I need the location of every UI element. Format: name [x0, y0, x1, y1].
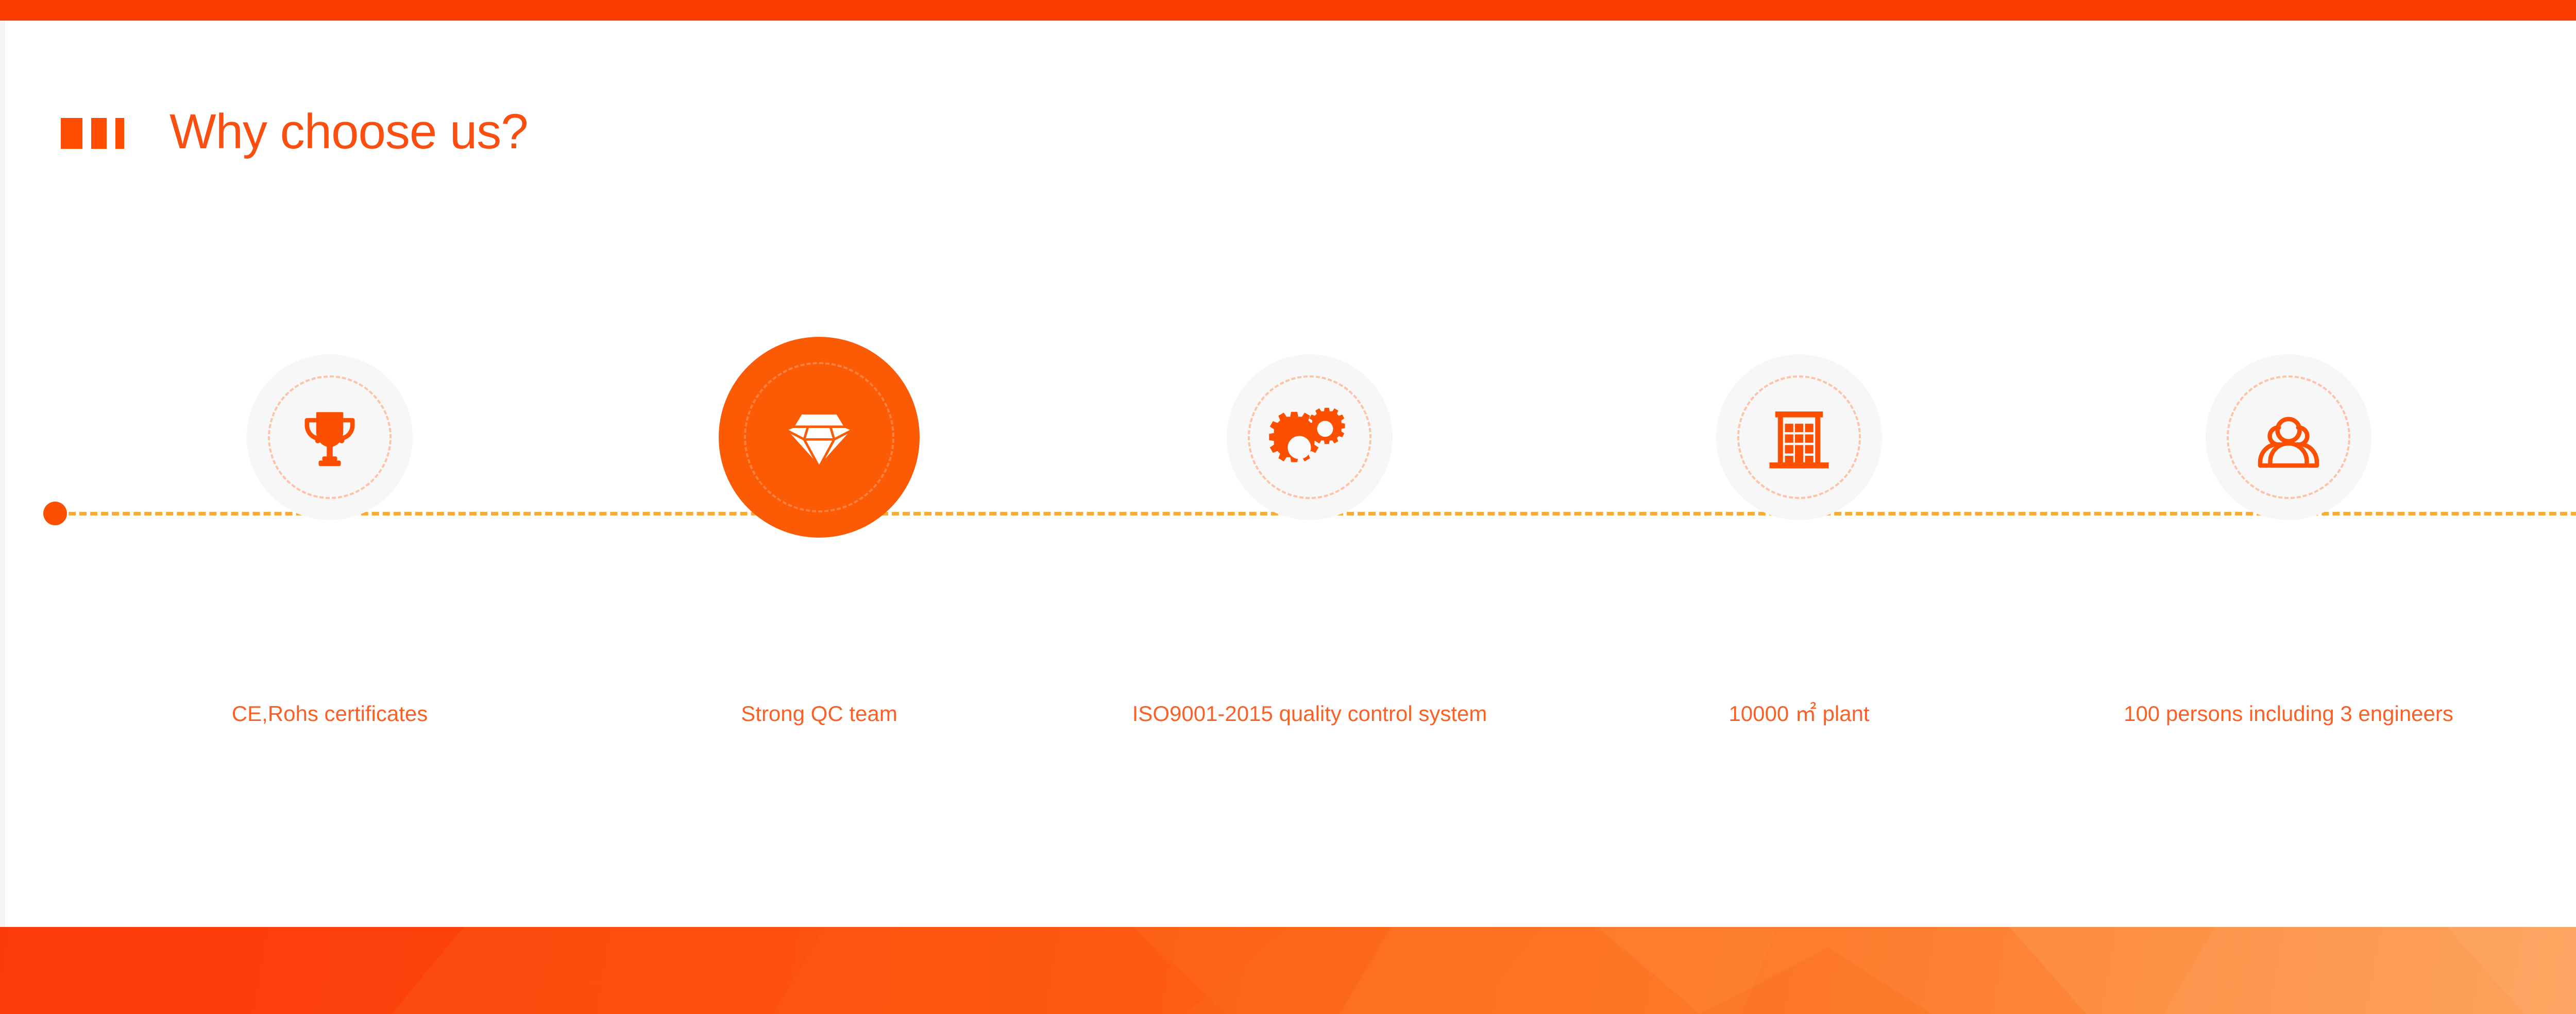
building-icon: [1758, 396, 1840, 478]
section-heading: Why choose us?: [61, 101, 528, 163]
heading-bar-wide-icon: [61, 118, 82, 149]
step-5-label: 100 persons including 3 engineers: [2052, 700, 2526, 727]
timeline-steps: CE,Rohs certificates Str: [0, 288, 2576, 803]
heading-bar-thin-icon: [115, 118, 124, 149]
step-5-circle[interactable]: [2206, 354, 2371, 520]
low-poly-shapes: [0, 927, 2576, 1014]
timeline-step-1[interactable]: CE,Rohs certificates: [165, 288, 495, 803]
step-4-label: 10000 ㎡ plant: [1562, 700, 2036, 727]
heading-bars-decoration: [61, 118, 124, 149]
step-3-circle[interactable]: [1227, 354, 1393, 520]
page-title: Why choose us?: [170, 107, 528, 157]
step-3-label: ISO9001-2015 quality control system: [1073, 700, 1547, 727]
people-group-icon: [2247, 396, 2330, 478]
why-choose-us-timeline: CE,Rohs certificates Str: [0, 288, 2576, 803]
step-1-circle[interactable]: [247, 354, 413, 520]
step-1-label: CE,Rohs certificates: [93, 700, 567, 727]
gears-icon: [1268, 396, 1351, 478]
top-accent-bar: [0, 0, 2576, 21]
timeline-step-5[interactable]: 100 persons including 3 engineers: [2124, 288, 2453, 803]
trophy-icon: [289, 396, 371, 478]
bottom-decorative-band: [0, 927, 2576, 1014]
step-2-label: Strong QC team: [582, 700, 1056, 727]
timeline-step-2[interactable]: Strong QC team: [654, 288, 984, 803]
step-4-circle[interactable]: [1716, 354, 1882, 520]
timeline-step-3[interactable]: ISO9001-2015 quality control system: [1145, 288, 1475, 803]
step-2-circle[interactable]: [719, 337, 920, 538]
diamond-icon: [771, 389, 867, 485]
timeline-step-4[interactable]: 10000 ㎡ plant: [1634, 288, 1964, 803]
heading-bar-medium-icon: [91, 118, 107, 149]
